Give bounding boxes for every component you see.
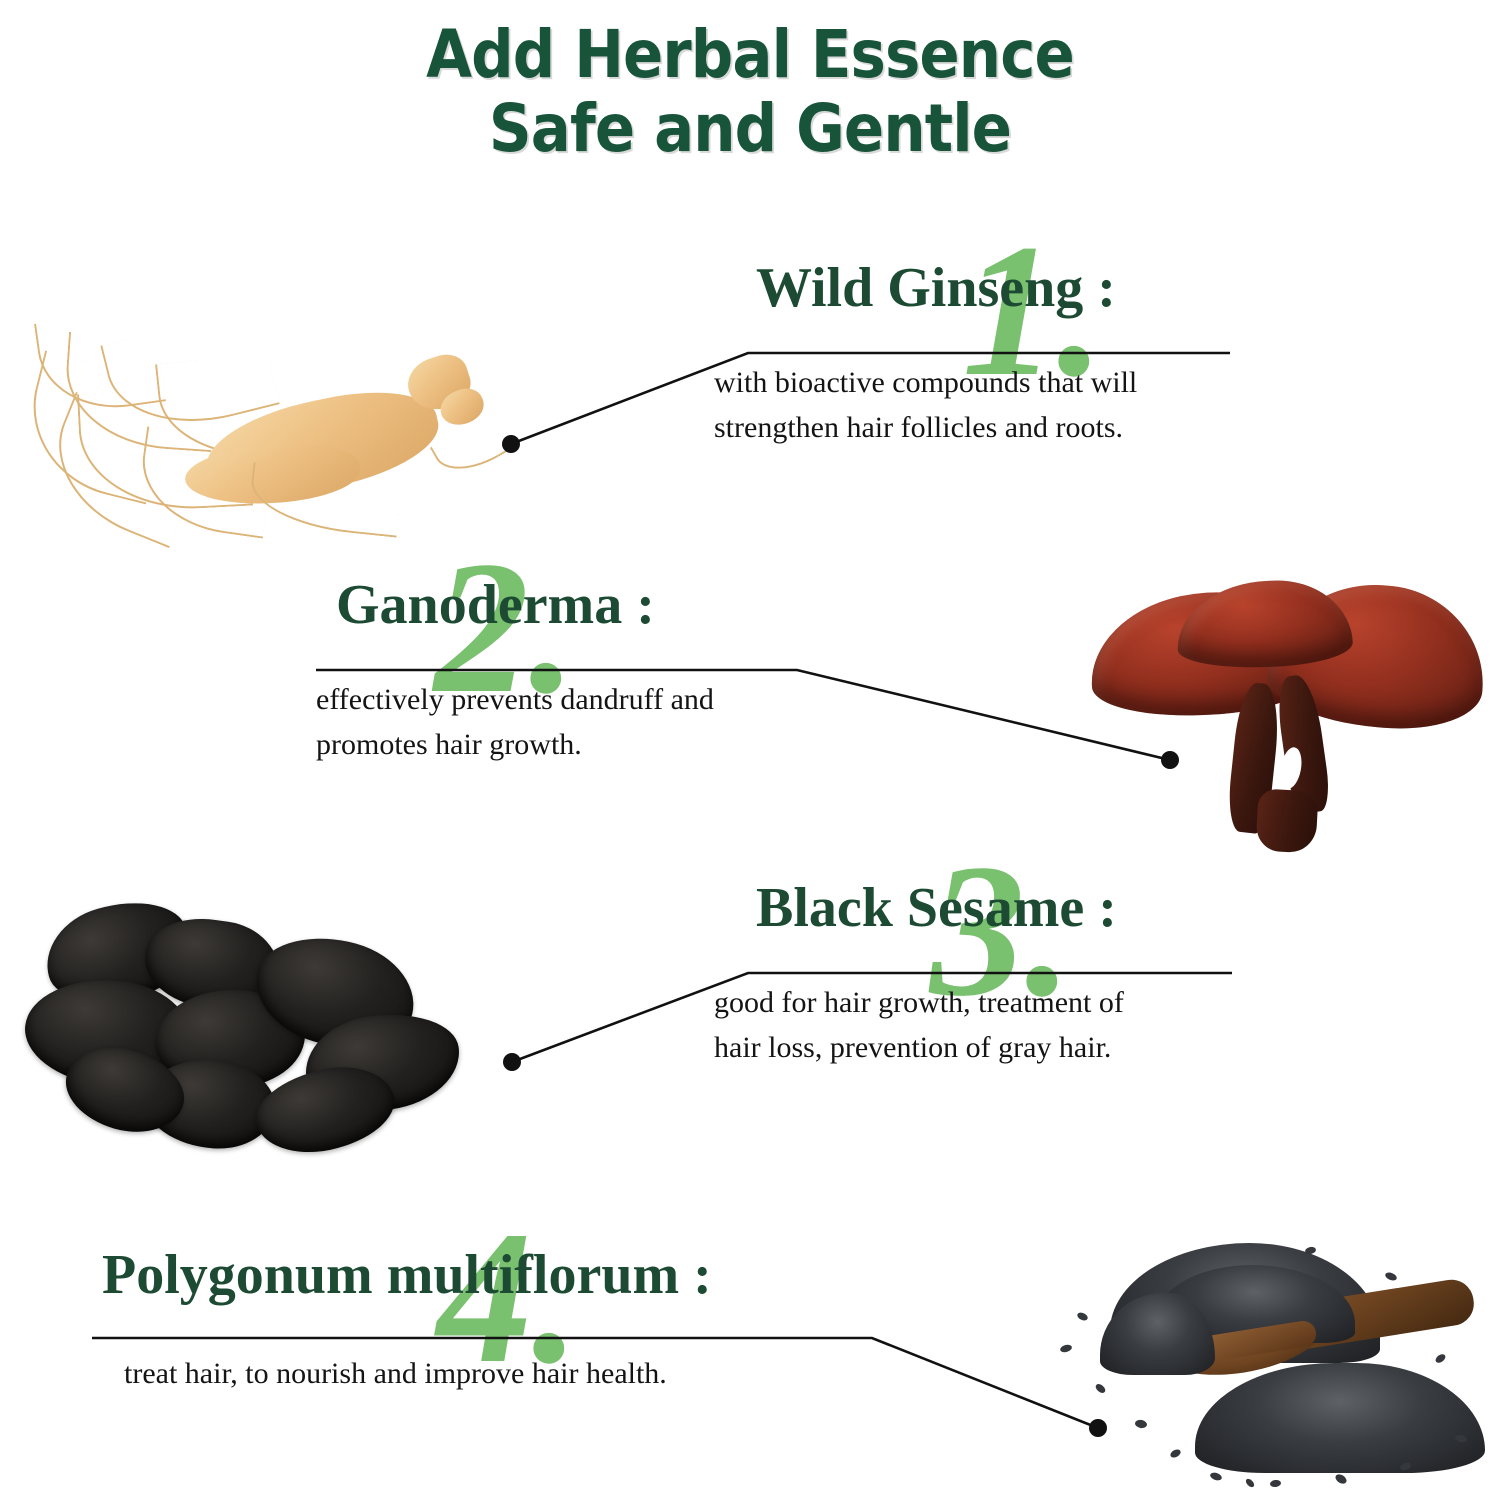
wild-ginseng-root-photo — [10, 295, 530, 560]
heading-wrap-4: 4. Polygonum multiflorum : — [92, 1245, 912, 1305]
ingredient-section-3: 3. Black Sesame : good for hair growth, … — [714, 878, 1254, 1070]
ganoderma-reishi-mushroom-photo — [1085, 575, 1480, 860]
heading-wrap-1: 1. Wild Ginseng : — [714, 258, 1254, 318]
title-line-1: Add Herbal Essence — [75, 18, 1425, 92]
black-sesame-seeds-with-wooden-scoop-photo — [1005, 1235, 1500, 1500]
dried-black-herb-slices-photo — [5, 885, 495, 1170]
ingredient-heading-4: Polygonum multiflorum : — [92, 1245, 912, 1305]
ingredient-desc-3-line-1: good for hair growth, treatment of — [714, 980, 1254, 1025]
ingredient-desc-3-line-2: hair loss, prevention of gray hair. — [714, 1025, 1254, 1070]
heading-wrap-3: 3. Black Sesame : — [714, 878, 1254, 938]
ingredient-desc-4-line-1: treat hair, to nourish and improve hair … — [92, 1351, 912, 1396]
ingredient-section-1: 1. Wild Ginseng : with bioactive compoun… — [714, 258, 1254, 450]
ingredient-heading-3: Black Sesame : — [714, 878, 1254, 938]
title-line-2: Safe and Gentle — [75, 92, 1425, 166]
heading-wrap-2: 2. Ganoderma : — [316, 575, 856, 635]
ingredient-section-2: 2. Ganoderma : effectively prevents dand… — [316, 575, 856, 767]
ingredient-desc-2-line-2: promotes hair growth. — [316, 722, 856, 767]
ingredient-desc-1-line-2: strengthen hair follicles and roots. — [714, 405, 1254, 450]
page-title: Add Herbal Essence Safe and Gentle — [0, 18, 1500, 166]
ingredient-heading-1: Wild Ginseng : — [714, 258, 1254, 318]
ingredient-desc-1-line-1: with bioactive compounds that will — [714, 360, 1254, 405]
ingredient-section-4: 4. Polygonum multiflorum : treat hair, t… — [92, 1245, 912, 1396]
ingredient-heading-2: Ganoderma : — [316, 575, 856, 635]
connector-dot-3 — [503, 1053, 521, 1071]
ingredient-desc-2-line-1: effectively prevents dandruff and — [316, 677, 856, 722]
